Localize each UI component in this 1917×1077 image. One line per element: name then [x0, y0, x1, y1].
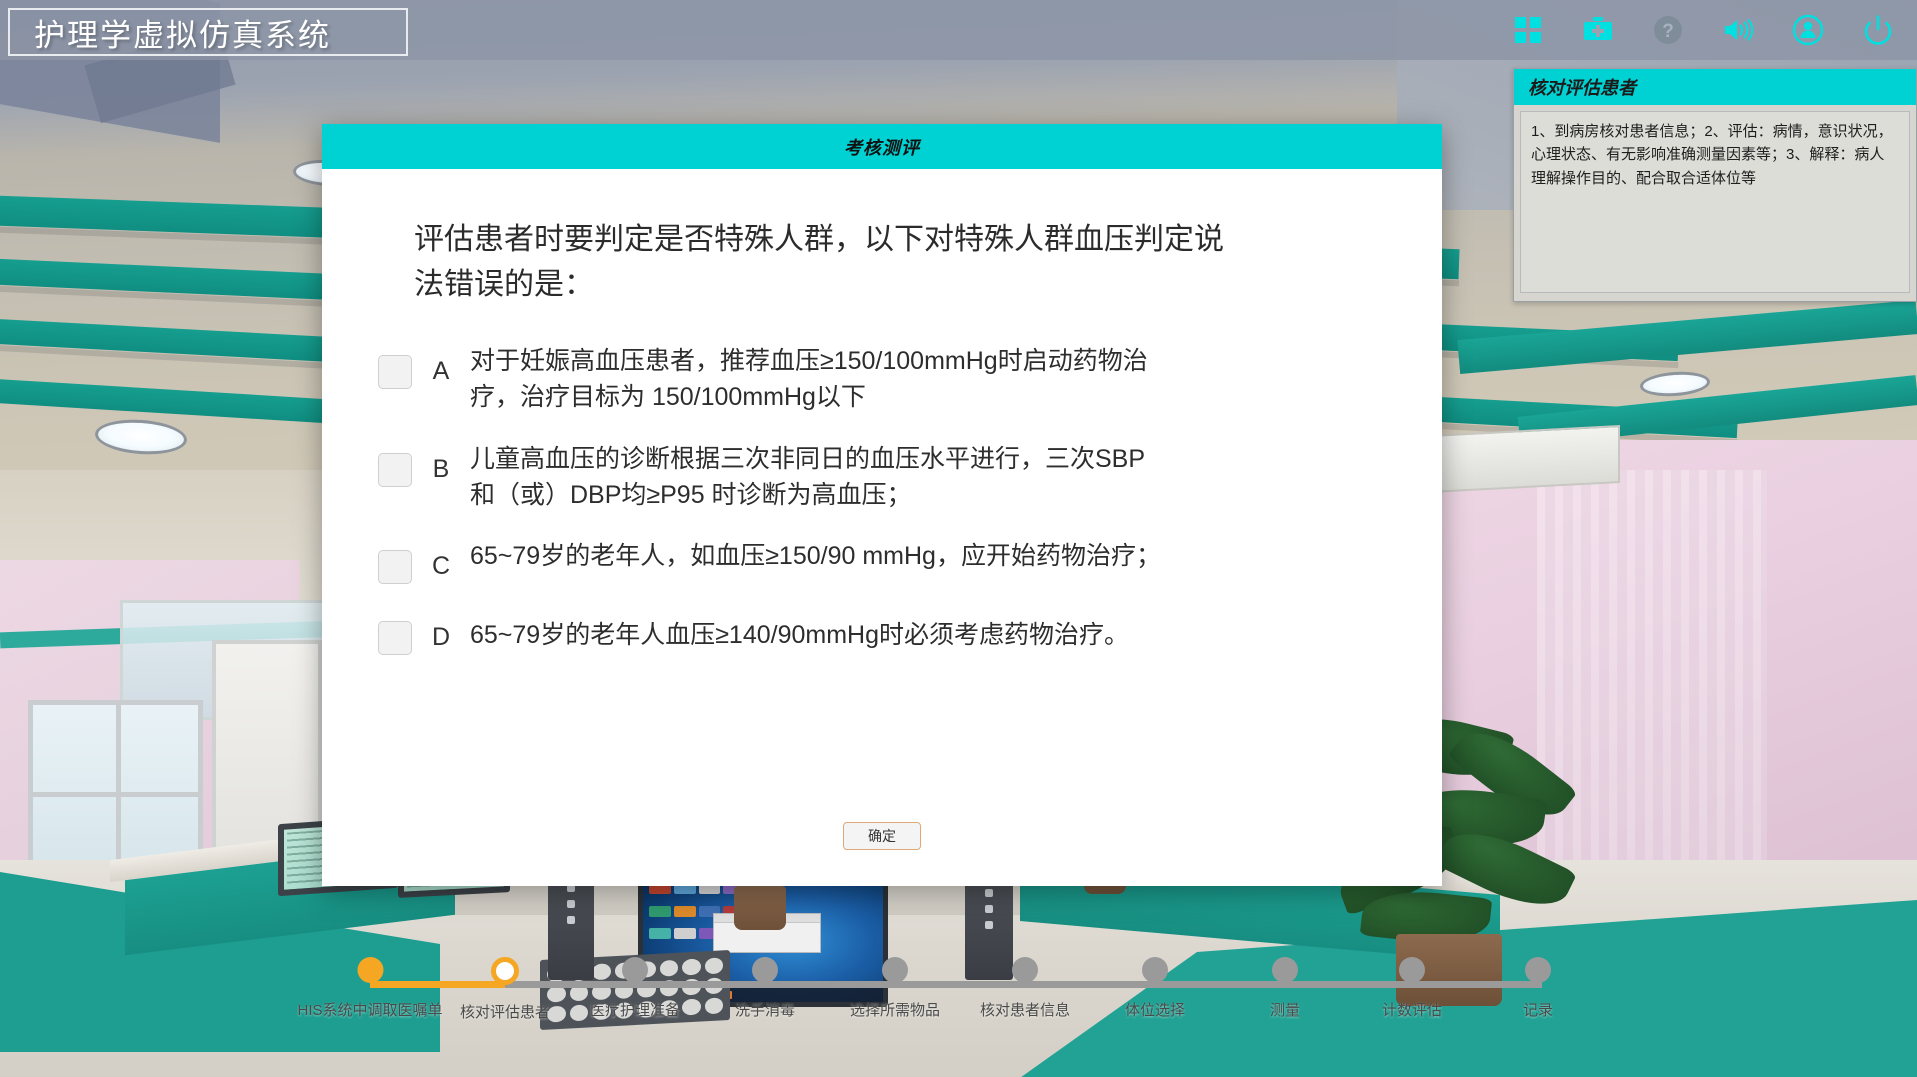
step-select-items[interactable]: 选择所需物品	[850, 957, 940, 1020]
workflow-stepper: HIS系统中调取医嘱单 核对评估患者 医疗护理准备 洗手消毒 选择所需物品 核对…	[0, 957, 1917, 1077]
power-icon[interactable]	[1861, 13, 1895, 47]
air-conditioner	[1430, 425, 1620, 493]
option-checkbox-d[interactable]	[378, 621, 412, 655]
option-letter-b: B	[428, 455, 454, 484]
step-count-assessment[interactable]: 计数评估	[1382, 957, 1442, 1020]
step-label: 洗手消毒	[735, 999, 795, 1020]
assessment-dialog-title: 考核测评	[844, 134, 920, 160]
option-row-a[interactable]: A 对于妊娠高血压患者，推荐血压≥150/100mmHg时启动药物治疗，治疗目标…	[378, 343, 1386, 416]
user-icon[interactable]	[1791, 13, 1825, 47]
step-record[interactable]: 记录	[1523, 957, 1553, 1020]
task-info-panel-header: 核对评估患者	[1514, 69, 1916, 105]
step-label: 记录	[1523, 999, 1553, 1020]
top-bar: 护理学虚拟仿真系统	[0, 0, 1917, 60]
app-title-box: 护理学虚拟仿真系统	[8, 8, 408, 56]
task-info-panel-title: 核对评估患者	[1528, 74, 1636, 100]
task-info-panel: 核对评估患者 1、到病房核对患者信息；2、评估：病情，意识状况，心理状态、有无影…	[1513, 68, 1917, 302]
assessment-dialog-header: 考核测评	[322, 124, 1442, 169]
question-text: 评估患者时要判定是否特殊人群，以下对特殊人群血压判定说法错误的是：	[414, 217, 1244, 307]
step-label: HIS系统中调取医嘱单	[297, 999, 442, 1020]
step-verify-patient-info[interactable]: 核对患者信息	[980, 957, 1070, 1020]
assessment-dialog-body: 评估患者时要判定是否特殊人群，以下对特殊人群血压判定说法错误的是： A 对于妊娠…	[322, 169, 1442, 655]
step-label: 医疗护理准备	[590, 999, 680, 1020]
grid-icon[interactable]	[1511, 13, 1545, 47]
assessment-dialog-footer: 确定	[322, 822, 1442, 850]
app-title: 护理学虚拟仿真系统	[34, 10, 331, 55]
step-dot	[491, 957, 519, 985]
task-info-panel-body: 1、到病房核对患者信息；2、评估：病情，意识状况，心理状态、有无影响准确测量因素…	[1520, 111, 1910, 293]
step-dot	[882, 957, 908, 983]
step-verify-assess-patient[interactable]: 核对评估患者	[460, 957, 550, 1022]
option-row-b[interactable]: B 儿童高血压的诊断根据三次非同日的血压水平进行，三次SBP和（或）DBP均≥P…	[378, 441, 1386, 514]
step-label: 选择所需物品	[850, 999, 940, 1020]
medkit-icon[interactable]	[1581, 13, 1615, 47]
step-label: 计数评估	[1382, 999, 1442, 1020]
step-dot	[1399, 957, 1425, 983]
help-icon[interactable]: ?	[1651, 13, 1685, 47]
confirm-button[interactable]: 确定	[843, 822, 921, 850]
option-checkbox-a[interactable]	[378, 355, 412, 389]
option-text-c: 65~79岁的老年人，如血压≥150/90 mmHg，应开始药物治疗；	[470, 538, 1161, 574]
assessment-dialog: 考核测评 评估患者时要判定是否特殊人群，以下对特殊人群血压判定说法错误的是： A…	[322, 124, 1442, 886]
option-letter-d: D	[428, 623, 454, 652]
option-text-d: 65~79岁的老年人血压≥140/90mmHg时必须考虑药物治疗。	[470, 609, 1129, 653]
option-checkbox-c[interactable]	[378, 550, 412, 584]
step-dot	[1272, 957, 1298, 983]
step-measurement[interactable]: 测量	[1270, 957, 1300, 1020]
answer-options: A 对于妊娠高血压患者，推荐血压≥150/100mmHg时启动药物治疗，治疗目标…	[378, 343, 1386, 655]
option-row-c[interactable]: C 65~79岁的老年人，如血压≥150/90 mmHg，应开始药物治疗；	[378, 538, 1386, 584]
step-label: 核对患者信息	[980, 999, 1070, 1020]
step-label: 体位选择	[1125, 999, 1185, 1020]
step-label: 核对评估患者	[460, 1001, 550, 1022]
option-text-a: 对于妊娠高血压患者，推荐血压≥150/100mmHg时启动药物治疗，治疗目标为 …	[470, 343, 1170, 416]
step-label: 测量	[1270, 999, 1300, 1020]
top-icon-bar: ?	[1511, 0, 1895, 60]
step-dot	[1142, 957, 1168, 983]
step-dot	[622, 957, 648, 983]
step-dot	[752, 957, 778, 983]
step-dot	[1525, 957, 1551, 983]
option-letter-c: C	[428, 552, 454, 581]
option-letter-a: A	[428, 357, 454, 386]
volume-icon[interactable]	[1721, 13, 1755, 47]
svg-text:?: ?	[1662, 21, 1674, 42]
step-dot	[357, 957, 383, 983]
app-root: 护理学虚拟仿真系统	[0, 0, 1917, 1077]
step-his-order[interactable]: HIS系统中调取医嘱单	[297, 957, 442, 1020]
option-checkbox-b[interactable]	[378, 453, 412, 487]
step-position-selection[interactable]: 体位选择	[1125, 957, 1185, 1020]
option-row-d[interactable]: D 65~79岁的老年人血压≥140/90mmHg时必须考虑药物治疗。	[378, 609, 1386, 655]
step-dot	[1012, 957, 1038, 983]
step-hand-disinfection[interactable]: 洗手消毒	[735, 957, 795, 1020]
option-text-b: 儿童高血压的诊断根据三次非同日的血压水平进行，三次SBP和（或）DBP均≥P95…	[470, 441, 1170, 514]
step-nursing-preparation[interactable]: 医疗护理准备	[590, 957, 680, 1020]
